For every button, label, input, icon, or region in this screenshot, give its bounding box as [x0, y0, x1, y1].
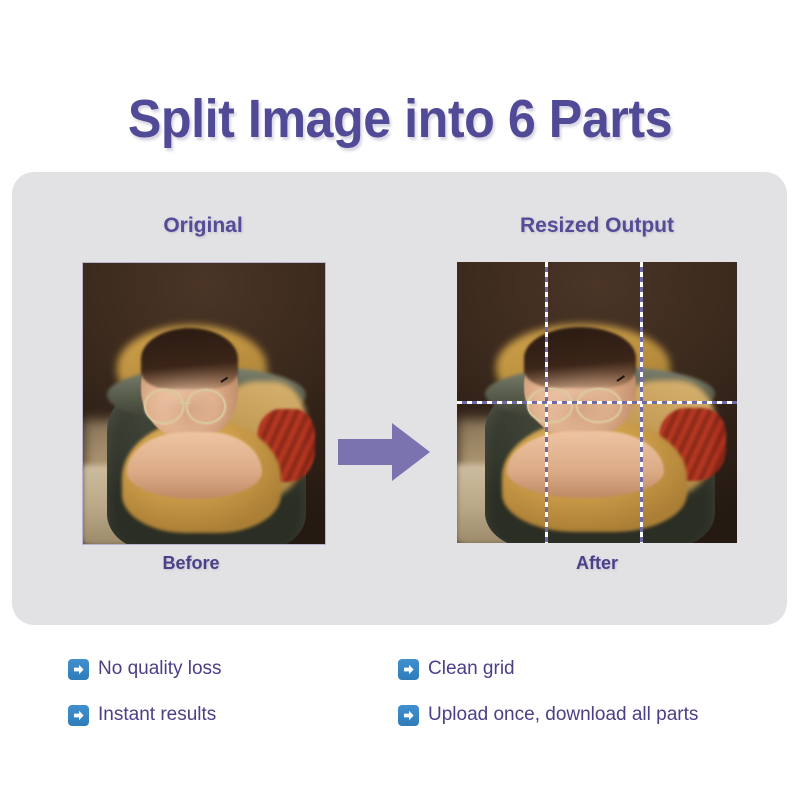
feature-list: No quality loss Clean grid Instant resul… [0, 648, 800, 758]
output-image[interactable] [457, 262, 737, 543]
page-title: Split Image into 6 Parts [28, 88, 772, 150]
photo-glasses-icon [144, 389, 226, 420]
original-caption: Before [70, 553, 312, 574]
arrow-right-box-icon [398, 659, 419, 680]
feature-item-no-quality-loss: No quality loss [68, 658, 222, 680]
glasses-left-lens [144, 389, 184, 424]
original-image-content [83, 263, 325, 544]
glasses-bridge [568, 401, 581, 403]
arrow-right-icon [334, 417, 434, 487]
arrow-right-box-icon [398, 705, 419, 726]
comparison-card: Original Resized Output [12, 172, 787, 625]
arrow-right-box-icon [68, 659, 89, 680]
feature-item-upload-once: Upload once, download all parts [398, 704, 698, 726]
feature-item-clean-grid: Clean grid [398, 658, 515, 680]
output-panel-heading: Resized Output [457, 214, 737, 238]
feature-label: Upload once, download all parts [428, 704, 698, 726]
glasses-right-lens [186, 389, 226, 424]
page-root: Split Image into 6 Parts Original Resize… [0, 0, 800, 800]
original-panel-heading: Original [82, 214, 324, 238]
glasses-bridge [179, 402, 191, 404]
photo-glasses-icon [527, 388, 622, 419]
glasses-left-lens [527, 388, 573, 423]
glasses-right-lens [576, 388, 622, 423]
feature-label: No quality loss [98, 658, 222, 680]
feature-item-instant-results: Instant results [68, 704, 216, 726]
arrow-right-box-icon [68, 705, 89, 726]
output-image-content [457, 262, 737, 543]
original-image[interactable] [82, 262, 326, 545]
feature-label: Clean grid [428, 658, 515, 680]
feature-label: Instant results [98, 704, 216, 726]
output-caption: After [457, 553, 737, 574]
